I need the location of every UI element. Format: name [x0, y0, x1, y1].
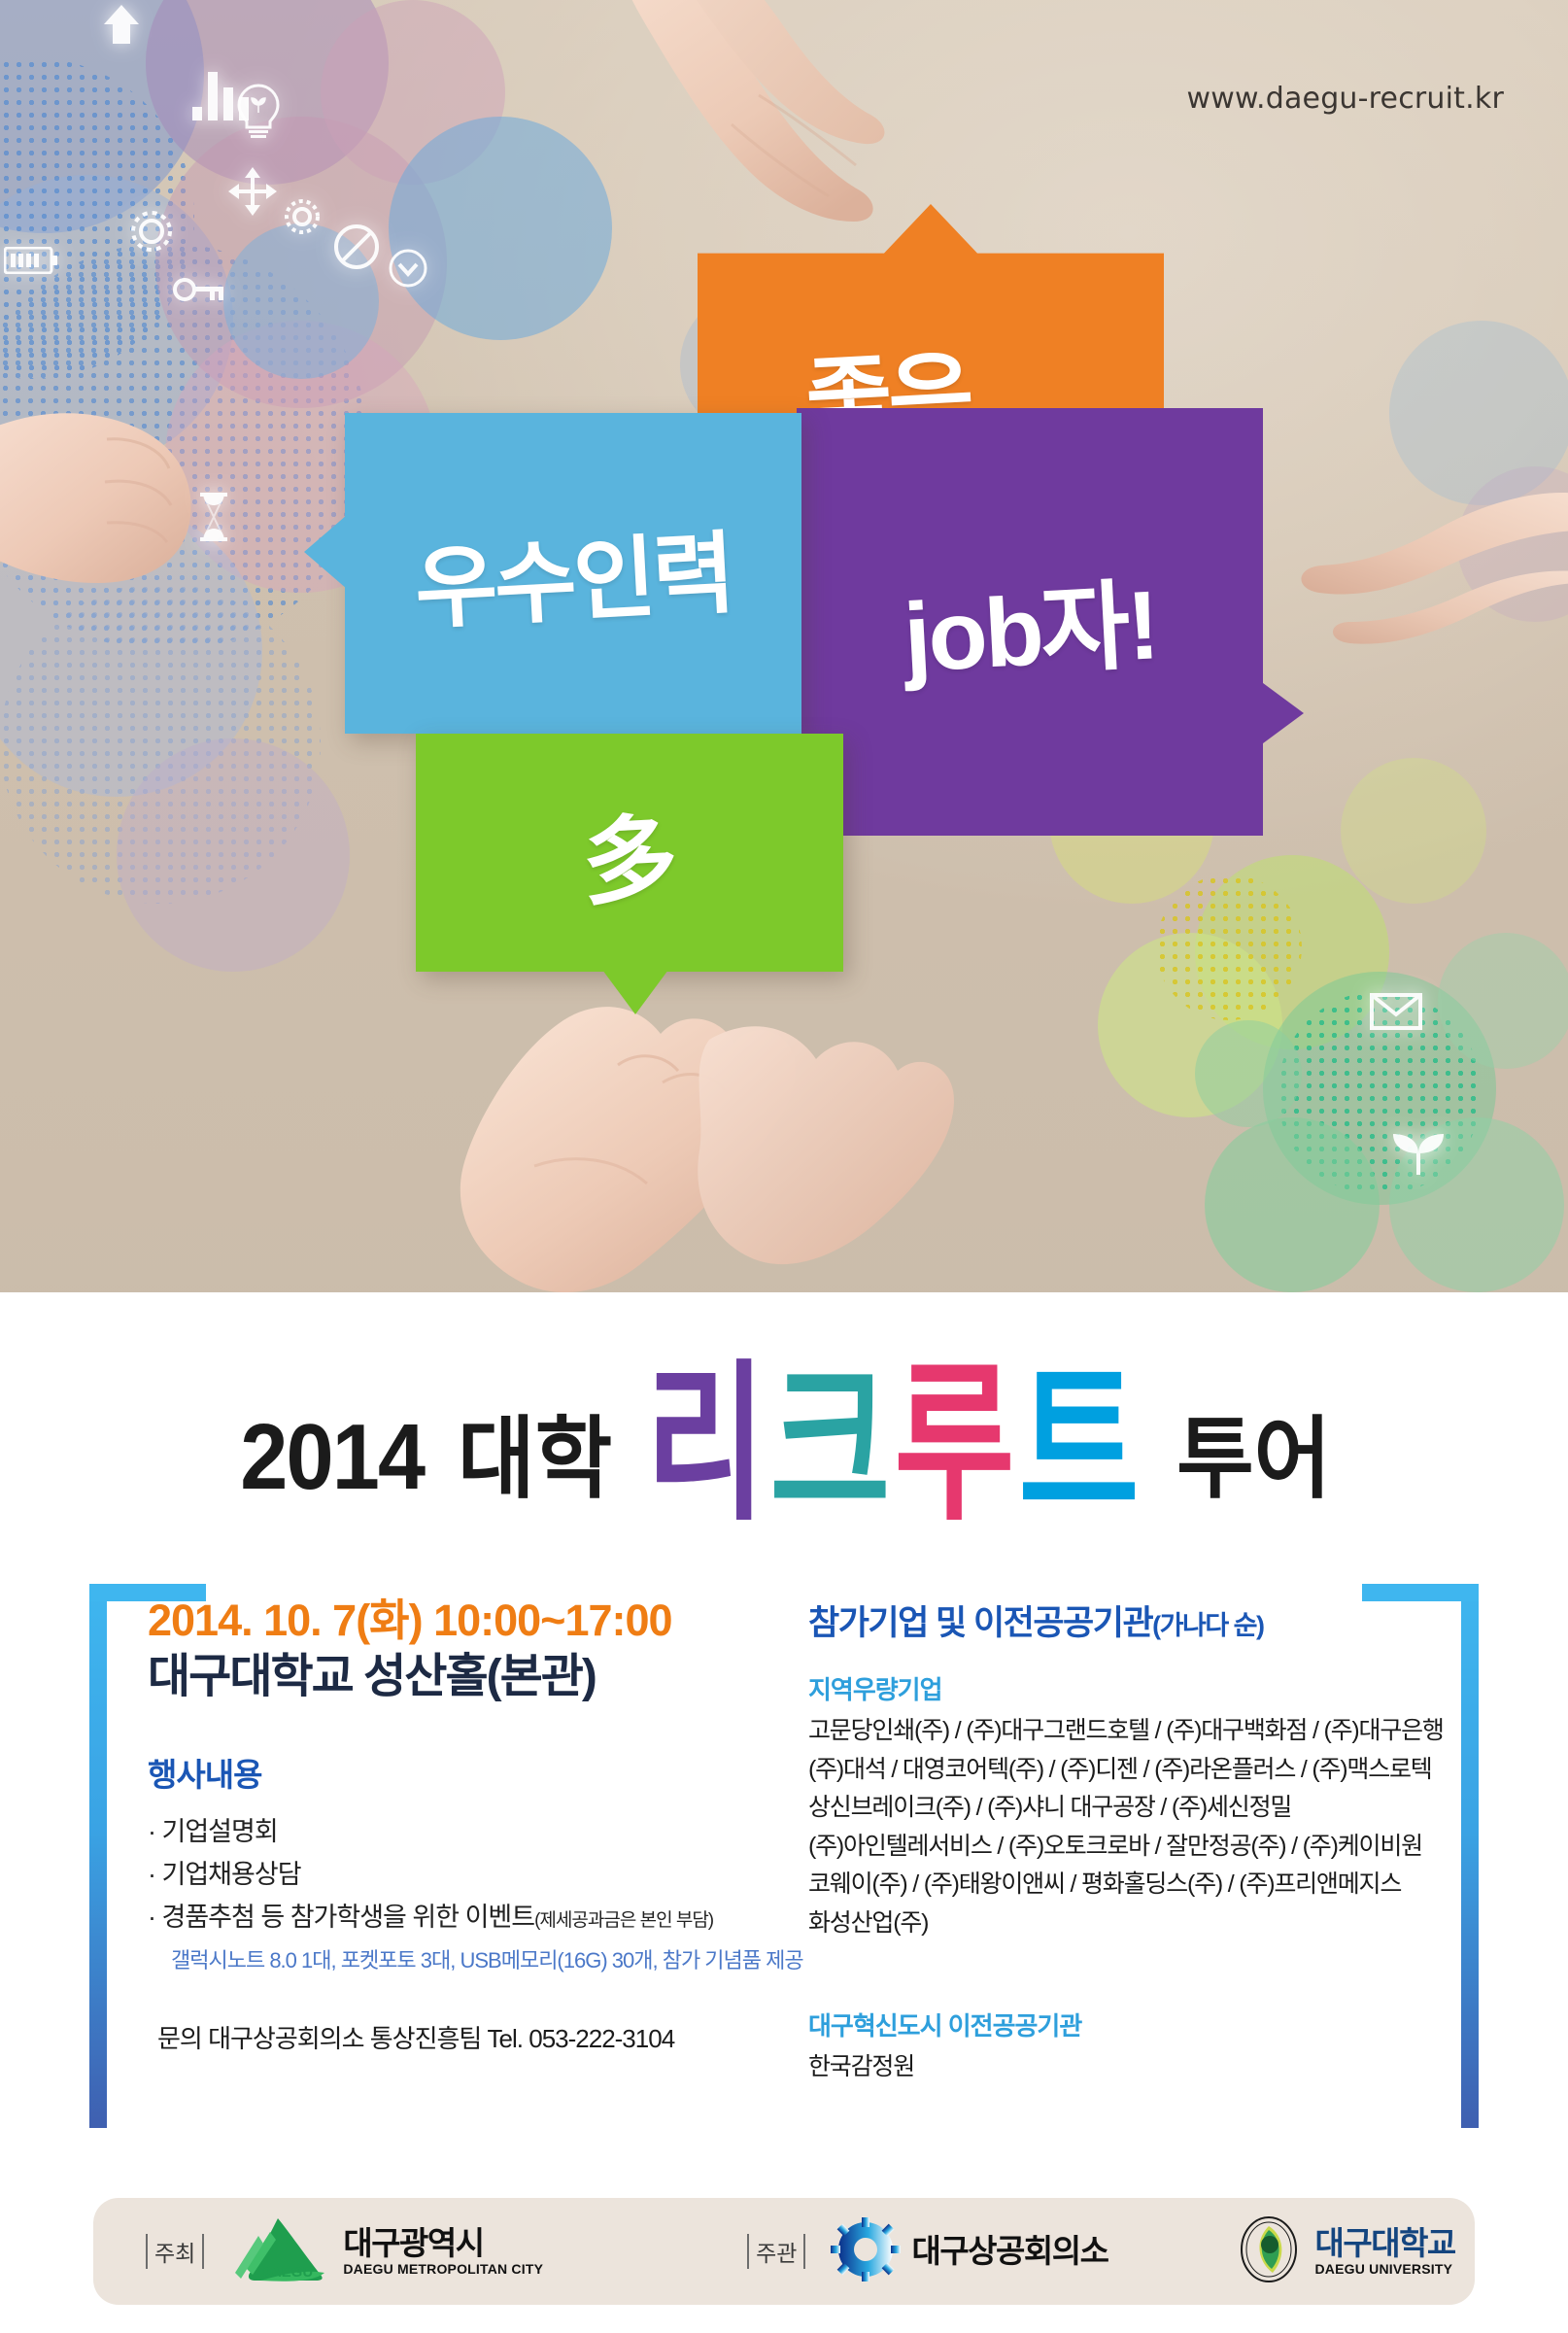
envelope-icon — [1370, 993, 1422, 1030]
company-line: 코웨이(주) / (주)태왕이앤씨 / 평화홀딩스(주) / (주)프리앤메지스 — [808, 1866, 1391, 1904]
bokeh-circle — [1205, 1117, 1380, 1292]
logo-daegu-city: DAEGU 대구광역시 DAEGU METROPOLITAN CITY — [231, 2216, 543, 2287]
program-item: · 경품추첨 등 참가학생을 위한 이벤트(제세공과금은 본인 부담) — [148, 1897, 731, 1939]
company-list: 고문당인쇄(주) / (주)대구그랜드호텔 / (주)대구백화점 / (주)대구… — [808, 1712, 1391, 1942]
halftone-circle — [1156, 875, 1302, 1020]
website-url[interactable]: www.daegu-recruit.kr — [1187, 82, 1504, 116]
footer-sponsors: 주최 DAEGU 대구광역시 DAEGU METROPOLITAN CITY 주… — [93, 2198, 1475, 2305]
hand-photo-right — [1282, 457, 1568, 748]
contact-line[interactable]: 문의 대구상공회의소 통상진흥팀 Tel. 053-222-3104 — [157, 2019, 731, 2055]
hero-banner: 좋은 일자리 job자! 우수인력 多 www.daegu-recruit.kr — [0, 0, 1568, 1292]
university-seal-icon — [1234, 2214, 1304, 2289]
bubble-tail-green — [602, 970, 668, 1014]
info-section: 2014. 10. 7(화) 10:00~17:00 대구대학교 성산홀(본관)… — [0, 1584, 1568, 2157]
bubble-text-green: 多 — [410, 723, 849, 983]
program-item: · 기업채용상담 — [148, 1854, 731, 1897]
bracket-left-vertical — [89, 1584, 107, 2128]
chamber-gear-icon — [831, 2217, 901, 2286]
hourglass-icon — [197, 492, 230, 542]
gear-icon — [280, 194, 324, 239]
host-tag: 주최 — [146, 2234, 204, 2269]
program-item-text: · 경품추첨 등 참가학생을 위한 이벤트 — [148, 1903, 534, 1932]
company-line: (주)아인텔레서비스 / (주)오토크로바 / 잘만정공(주) / (주)케이비… — [808, 1828, 1391, 1867]
event-date: 2014. 10. 7(화) 10:00~17:00 — [148, 1595, 731, 1646]
program-item-text: · 기업설명회 — [148, 1817, 278, 1846]
hand-photo-left — [0, 292, 282, 612]
logo-daegu-chamber: 대구상공회의소 — [831, 2217, 1108, 2286]
battery-icon — [4, 247, 58, 274]
participants-heading-main: 참가기업 및 이전공공기관 — [808, 1604, 1152, 1642]
svg-text:DAEGU: DAEGU — [260, 2264, 313, 2281]
program-item-note: (제세공과금은 본인 부담) — [534, 1910, 713, 1931]
daegu-city-mark-icon: DAEGU — [231, 2216, 332, 2287]
gear-icon — [124, 204, 179, 258]
university-name: 대구대학교 DAEGU UNIVERSITY — [1314, 2227, 1454, 2276]
key-icon — [173, 274, 225, 305]
title-year: 2014 — [240, 1411, 424, 1504]
company-line: 상신브레이크(주) / (주)샤니 대구공장 / (주)세신정밀 — [808, 1789, 1391, 1828]
participants-heading-suffix: (가나다 순) — [1152, 1611, 1263, 1640]
lightbulb-icon — [236, 84, 281, 138]
university-name-kr: 대구대학교 — [1314, 2227, 1454, 2260]
list-spacer — [808, 1942, 1391, 1981]
organizer-tag: 주관 — [747, 2234, 805, 2269]
bubble-text-blue: 우수인력 — [337, 401, 810, 745]
bokeh-circle — [1438, 933, 1568, 1069]
poster-root: 좋은 일자리 job자! 우수인력 多 www.daegu-recruit.kr… — [0, 0, 1568, 2333]
no-entry-icon — [333, 223, 380, 270]
chevron-down-icon — [389, 249, 427, 288]
company-line: 고문당인쇄(주) / (주)대구그랜드호텔 / (주)대구백화점 / (주)대구… — [808, 1712, 1391, 1751]
daegu-city-name: 대구광역시 DAEGU METROPOLITAN CITY — [343, 2227, 543, 2276]
daegu-city-name-en: DAEGU METROPOLITAN CITY — [343, 2262, 543, 2276]
speech-bubble-blue: 우수인력 — [345, 413, 801, 734]
logo-char-keu: 크 — [769, 1374, 881, 1515]
event-details-column: 2014. 10. 7(화) 10:00~17:00 대구대학교 성산홀(본관)… — [148, 1595, 731, 2055]
logo-char-teu: 트 — [1018, 1374, 1130, 1515]
move-arrows-icon — [228, 167, 277, 216]
bokeh-circle — [1341, 758, 1486, 904]
participants-heading: 참가기업 및 이전공공기관(가나다 순) — [808, 1595, 1391, 1645]
up-arrow-icon — [102, 3, 141, 46]
hand-photo-top-right — [622, 0, 942, 223]
event-venue: 대구대학교 성산홀(본관) — [148, 1650, 731, 1705]
program-list: · 기업설명회 · 기업채용상담 · 경품추첨 등 참가학생을 위한 이벤트(제… — [148, 1811, 731, 1973]
chamber-name-kr: 대구상공회의소 — [911, 2235, 1108, 2268]
company-line: 화성산업(주) — [808, 1904, 1391, 1943]
title-daehak: 대학 — [459, 1415, 613, 1504]
logo-daegu-university: 대구대학교 DAEGU UNIVERSITY — [1234, 2214, 1454, 2289]
program-item: · 기업설명회 — [148, 1811, 731, 1854]
group-label-local-companies: 지역우량기업 — [808, 1670, 1391, 1706]
daegu-city-name-kr: 대구광역시 — [343, 2227, 543, 2260]
bokeh-circle — [117, 738, 350, 972]
speech-bubble-green: 多 — [416, 734, 843, 972]
program-item-text: · 기업채용상담 — [148, 1860, 301, 1889]
hand-photo-bottom-right — [670, 1011, 991, 1292]
bubble-tail-purple — [1259, 680, 1304, 746]
institution-list: 한국감정원 — [808, 2048, 1391, 2087]
logo-char-ri: 리 — [645, 1374, 757, 1515]
speech-bubble-purple: job자! — [797, 408, 1263, 836]
university-name-en: DAEGU UNIVERSITY — [1314, 2262, 1454, 2276]
participants-column: 참가기업 및 이전공공기관(가나다 순) 지역우량기업 고문당인쇄(주) / (… — [808, 1595, 1391, 2087]
logo-char-ru: 루 — [894, 1374, 1006, 1515]
bracket-right-vertical — [1461, 1584, 1479, 2128]
bokeh-circle — [1195, 1020, 1302, 1127]
program-heading: 행사내용 — [148, 1749, 731, 1796]
title-tour: 투어 — [1176, 1415, 1331, 1504]
group-label-public-institutions: 대구혁신도시 이전공공기관 — [808, 2007, 1391, 2042]
poster-title: 2014 대학 리 크 루 트 투어 — [0, 1349, 1568, 1504]
chamber-name: 대구상공회의소 — [911, 2235, 1108, 2268]
company-line: (주)대석 / 대영코어텍(주) / (주)디젠 / (주)라온플러스 / (주… — [808, 1751, 1391, 1790]
prize-note: 갤럭시노트 8.0 1대, 포켓포토 3대, USB메모리(16G) 30개, … — [171, 1943, 731, 1974]
institution-line: 한국감정원 — [808, 2048, 1391, 2087]
bubble-tail-blue — [304, 515, 347, 589]
leaf-icon — [1391, 1132, 1446, 1177]
title-logo-recruit: 리 크 루 트 — [639, 1385, 1137, 1504]
bubble-text-purple: job자! — [786, 396, 1274, 848]
